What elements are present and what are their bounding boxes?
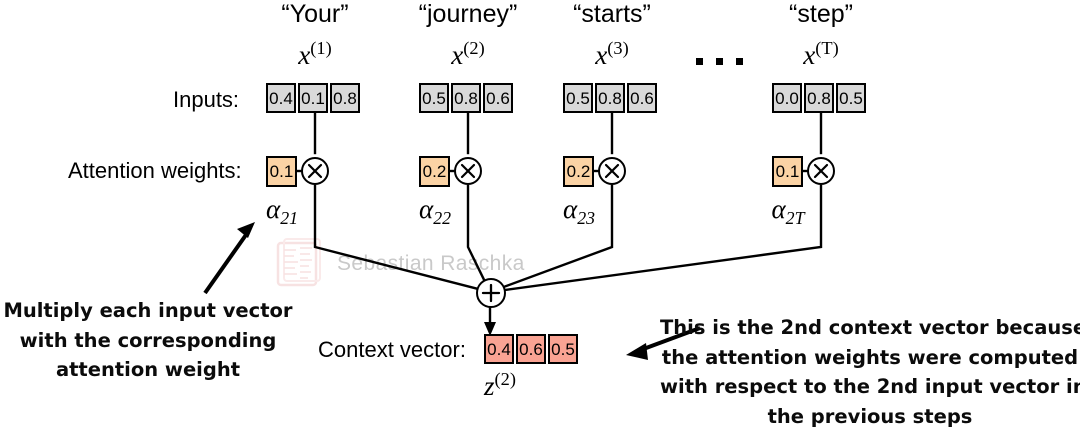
input-cell: 0.5 bbox=[563, 83, 593, 113]
alpha-label-2-base: α bbox=[419, 194, 433, 224]
input-cell: 0.8 bbox=[451, 83, 481, 113]
token-word-3: “starts” bbox=[562, 2, 662, 27]
alpha-label-1-base: α bbox=[266, 194, 280, 224]
attention-diagram: Sebastian Raschka bbox=[0, 0, 1080, 446]
context-symbol-base: z bbox=[484, 371, 495, 401]
input-cell: 0.4 bbox=[266, 83, 296, 113]
context-symbol-sup: (2) bbox=[495, 369, 516, 389]
left-annotation: Multiply each input vector with the corr… bbox=[0, 296, 296, 385]
multiply-node-1 bbox=[301, 157, 329, 185]
right-annotation: This is the 2nd context vector because t… bbox=[660, 313, 1080, 432]
alpha-label-4-sub: 2T bbox=[786, 208, 805, 228]
attention-weight-2: 0.2 bbox=[419, 156, 450, 187]
right-annotation-line-4: the previous steps bbox=[660, 402, 1080, 432]
input-symbol-1-base: x bbox=[298, 40, 310, 70]
input-cell: 0.6 bbox=[627, 83, 657, 113]
alpha-label-1-sub: 21 bbox=[280, 208, 298, 228]
input-vector-1: 0.4 0.1 0.8 bbox=[266, 83, 360, 113]
attention-weights-row-label: Attention weights: bbox=[68, 160, 242, 182]
left-annotation-line-2: with the corresponding bbox=[0, 326, 296, 356]
input-symbol-1-sup: (1) bbox=[310, 38, 331, 58]
left-annotation-line-3: attention weight bbox=[0, 355, 296, 385]
input-cell: 0.6 bbox=[483, 83, 513, 113]
alpha-label-3-sub: 23 bbox=[577, 208, 595, 228]
token-word-1: “Your” bbox=[265, 2, 365, 27]
input-cell: 0.0 bbox=[772, 83, 802, 113]
input-symbol-4-base: x bbox=[803, 40, 815, 70]
alpha-label-4: α2T bbox=[754, 196, 822, 223]
alpha-label-2: α22 bbox=[401, 196, 469, 223]
token-word-2: “journey” bbox=[418, 2, 518, 27]
context-vector: 0.4 0.6 0.5 bbox=[484, 334, 578, 364]
alpha-label-4-base: α bbox=[771, 194, 785, 224]
alpha-label-1: α21 bbox=[248, 196, 316, 223]
input-cell: 0.5 bbox=[419, 83, 449, 113]
context-symbol: z(2) bbox=[470, 373, 530, 400]
attention-weight-3: 0.2 bbox=[563, 156, 594, 187]
left-annotation-arrow bbox=[205, 222, 255, 293]
sum-node bbox=[476, 278, 506, 308]
input-vector-4: 0.0 0.8 0.5 bbox=[772, 83, 866, 113]
input-symbol-2: x(2) bbox=[418, 42, 518, 69]
input-symbol-3-sup: (3) bbox=[607, 38, 628, 58]
input-symbol-4: x(T) bbox=[771, 42, 871, 69]
right-annotation-line-3: with respect to the 2nd input vector in bbox=[660, 372, 1080, 402]
input-cell: 0.5 bbox=[836, 83, 866, 113]
input-vector-2: 0.5 0.8 0.6 bbox=[419, 83, 513, 113]
alpha-label-3: α23 bbox=[545, 196, 613, 223]
attention-weight-4: 0.1 bbox=[772, 156, 803, 187]
input-cell: 0.8 bbox=[804, 83, 834, 113]
multiply-node-4 bbox=[807, 157, 835, 185]
input-cell: 0.8 bbox=[330, 83, 360, 113]
attention-weight-1: 0.1 bbox=[266, 156, 297, 187]
multiply-node-2 bbox=[454, 157, 482, 185]
left-annotation-line-1: Multiply each input vector bbox=[0, 296, 296, 326]
ellipsis-icon bbox=[696, 58, 743, 65]
input-symbol-3: x(3) bbox=[562, 42, 662, 69]
input-symbol-2-base: x bbox=[451, 40, 463, 70]
input-symbol-1: x(1) bbox=[265, 42, 365, 69]
input-symbol-4-sup: (T) bbox=[815, 38, 838, 58]
token-word-4: “step” bbox=[771, 2, 871, 27]
input-symbol-3-base: x bbox=[595, 40, 607, 70]
context-cell: 0.4 bbox=[484, 334, 514, 364]
alpha-label-2-sub: 22 bbox=[433, 208, 451, 228]
alpha-label-3-base: α bbox=[563, 194, 577, 224]
input-symbol-2-sup: (2) bbox=[463, 38, 484, 58]
right-annotation-line-1: This is the 2nd context vector because bbox=[660, 313, 1080, 343]
multiply-node-3 bbox=[598, 157, 626, 185]
right-annotation-line-2: the attention weights were computed bbox=[660, 343, 1080, 373]
input-cell: 0.1 bbox=[298, 83, 328, 113]
input-cell: 0.8 bbox=[595, 83, 625, 113]
context-cell: 0.6 bbox=[516, 334, 546, 364]
context-vector-row-label: Context vector: bbox=[318, 339, 466, 361]
input-vector-3: 0.5 0.8 0.6 bbox=[563, 83, 657, 113]
context-cell: 0.5 bbox=[548, 334, 578, 364]
inputs-row-label: Inputs: bbox=[173, 89, 239, 111]
